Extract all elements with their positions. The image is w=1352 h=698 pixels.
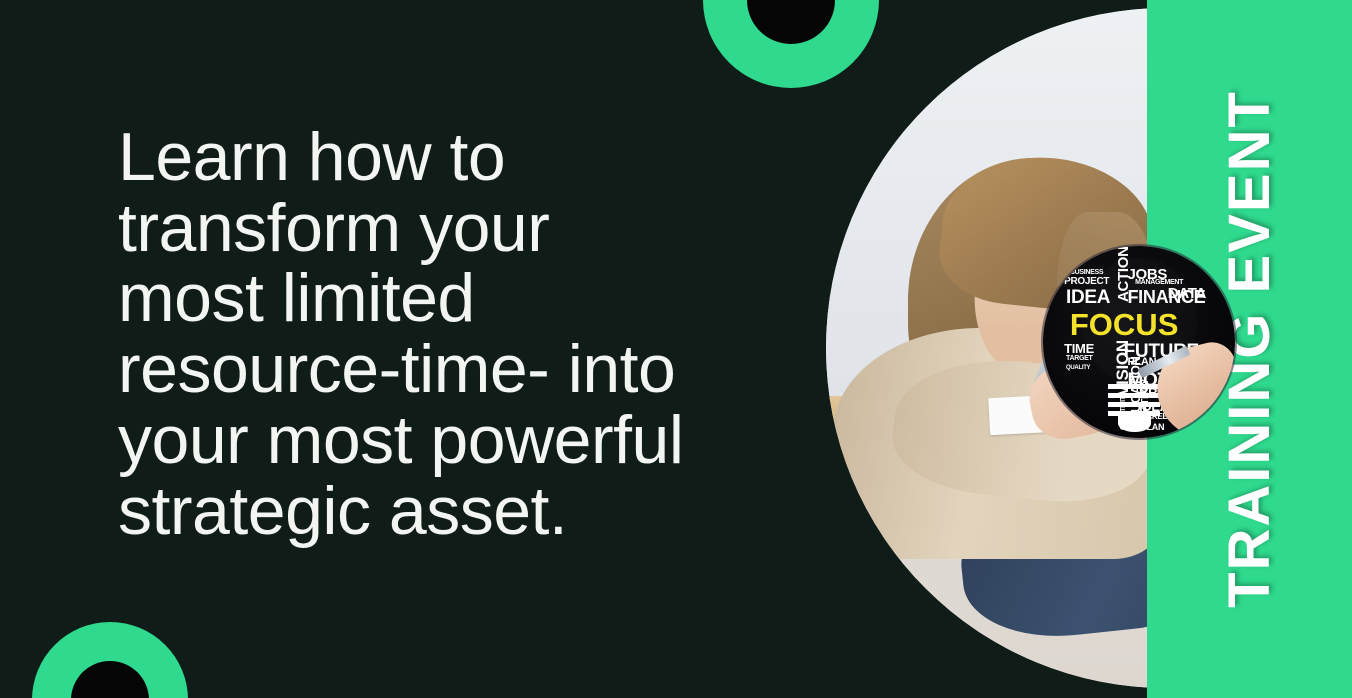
wordcloud-word-time: TIME (1064, 342, 1094, 355)
wordcloud-word-focus: FOCUS (1070, 309, 1179, 340)
wordcloud-word-quality: QUALITY (1066, 365, 1090, 371)
training-event-banner: Learn how to transform your most limited… (0, 0, 1352, 698)
wordcloud-word-project: PROJECT (1064, 277, 1109, 287)
wordcloud-word-idea: IDEA (1066, 288, 1110, 307)
wordcloud-word-business: BUSINESS (1070, 269, 1103, 276)
lightbulb-tip (1118, 415, 1151, 432)
lightbulb-wordcloud-circle: BUSINESS PROJECT JOBS MANAGEMENT DATA ID… (1043, 246, 1235, 438)
wordcloud-word-action: ACTION (1116, 246, 1131, 302)
page-title: Learn how to transform your most limited… (118, 122, 848, 546)
wordcloud-word-target: TARGET (1066, 355, 1092, 362)
lightbulb-screw-base (1108, 384, 1160, 419)
wordcloud-word-finance: FINANCE (1127, 288, 1205, 306)
